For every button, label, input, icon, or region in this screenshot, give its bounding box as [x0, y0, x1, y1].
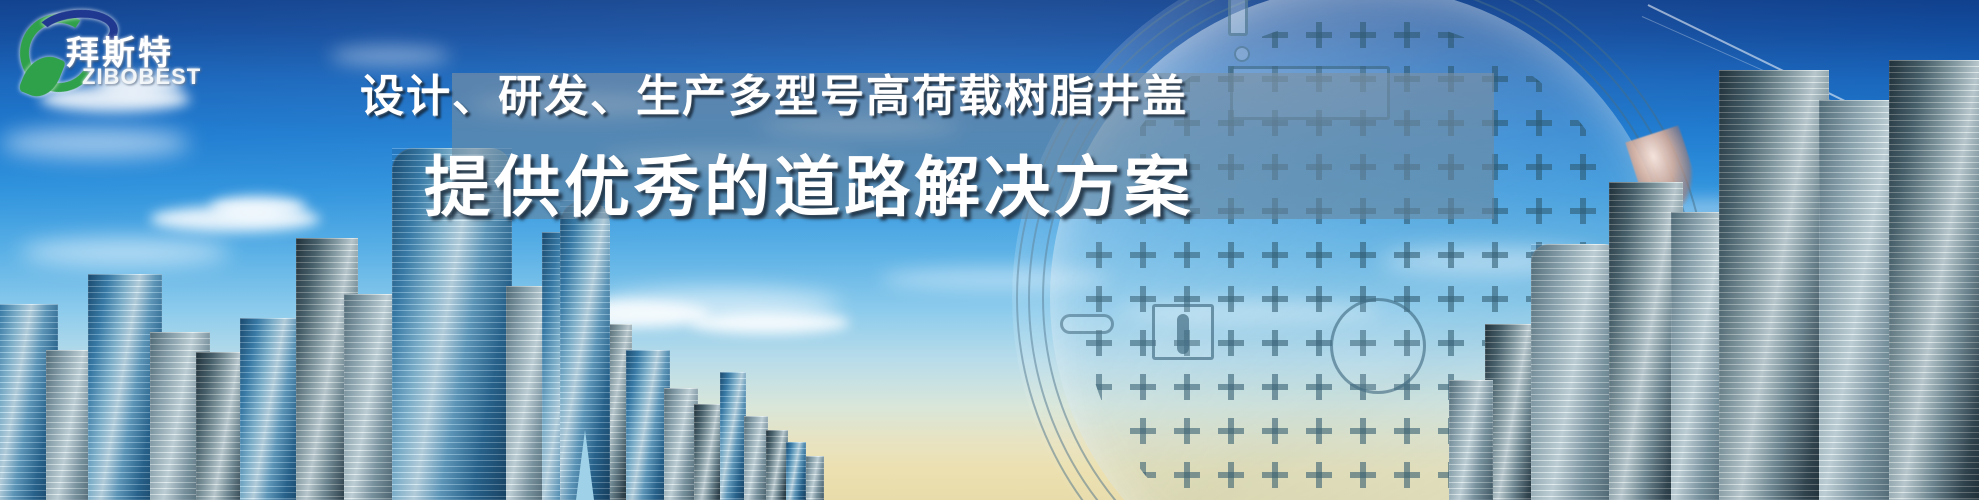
manhole-cross-cell: [1262, 22, 1288, 48]
manhole-cross-cell: [1218, 462, 1244, 488]
manhole-pry-tab: [1060, 314, 1114, 334]
manhole-cross-cell: [1306, 22, 1332, 48]
manhole-cross-cell: [1570, 22, 1596, 48]
manhole-cross-cell: [1526, 22, 1552, 48]
manhole-cross-cell: [1306, 418, 1332, 444]
manhole-cross-cell: [1086, 374, 1112, 400]
manhole-cross-cell: [1306, 242, 1332, 268]
manhole-cross-cell: [1130, 22, 1156, 48]
manhole-cross-cell: [1262, 374, 1288, 400]
headline-line-2: 提供优秀的道路解决方案: [424, 134, 1424, 230]
manhole-cross-cell: [1174, 374, 1200, 400]
manhole-cross-cell: [1306, 330, 1332, 356]
manhole-cross-cell: [1174, 22, 1200, 48]
manhole-cross-cell: [1130, 374, 1156, 400]
manhole-cross-cell: [1438, 22, 1464, 48]
manhole-cross-cell: [1394, 462, 1420, 488]
manhole-cross-cell: [1394, 22, 1420, 48]
manhole-center-circle: [1330, 298, 1426, 394]
manhole-cross-cell: [1350, 242, 1376, 268]
hero-banner: 设计、研发、生产多型号高荷载树脂井盖 提供优秀的道路解决方案 拜斯特 ZIBOB…: [0, 0, 1979, 500]
manhole-cross-cell: [1218, 418, 1244, 444]
brand-logo[interactable]: 拜斯特 ZIBOBEST: [8, 4, 198, 102]
manhole-cross-cell: [1306, 462, 1332, 488]
manhole-cross-cell: [1262, 242, 1288, 268]
manhole-cross-cell: [1306, 286, 1332, 312]
manhole-cross-cell: [1130, 242, 1156, 268]
manhole-cross-cell: [1614, 22, 1640, 48]
manhole-cross-cell: [1262, 418, 1288, 444]
logo-english-name: ZIBOBEST: [82, 64, 201, 90]
manhole-cross-cell: [1086, 418, 1112, 444]
manhole-cross-cell: [1394, 418, 1420, 444]
manhole-cross-cell: [1218, 286, 1244, 312]
skyline-right: [1419, 70, 1979, 500]
manhole-cross-cell: [1174, 462, 1200, 488]
manhole-cross-cell: [1394, 242, 1420, 268]
manhole-cross-cell: [1262, 286, 1288, 312]
manhole-cross-cell: [1174, 418, 1200, 444]
manhole-cross-cell: [1350, 22, 1376, 48]
headline-line-1: 设计、研发、生产多型号高荷载树脂井盖: [360, 60, 1360, 124]
manhole-cross-cell: [1130, 418, 1156, 444]
manhole-cross-cell: [1262, 330, 1288, 356]
manhole-cross-cell: [1218, 374, 1244, 400]
manhole-cross-cell: [1306, 374, 1332, 400]
manhole-cross-cell: [1350, 418, 1376, 444]
manhole-cross-cell: [1218, 242, 1244, 268]
manhole-cross-cell: [1130, 462, 1156, 488]
manhole-cross-cell: [1086, 286, 1112, 312]
manhole-cross-cell: [1262, 462, 1288, 488]
manhole-cross-cell: [1086, 242, 1112, 268]
manhole-cross-cell: [1482, 22, 1508, 48]
manhole-cross-cell: [1086, 462, 1112, 488]
manhole-lock-icon: [1152, 304, 1214, 360]
manhole-cross-cell: [1086, 22, 1112, 48]
manhole-cross-cell: [1350, 462, 1376, 488]
manhole-cross-cell: [1174, 242, 1200, 268]
manhole-cross-cell: [1218, 330, 1244, 356]
manhole-hinge-pin: [1228, 0, 1248, 36]
